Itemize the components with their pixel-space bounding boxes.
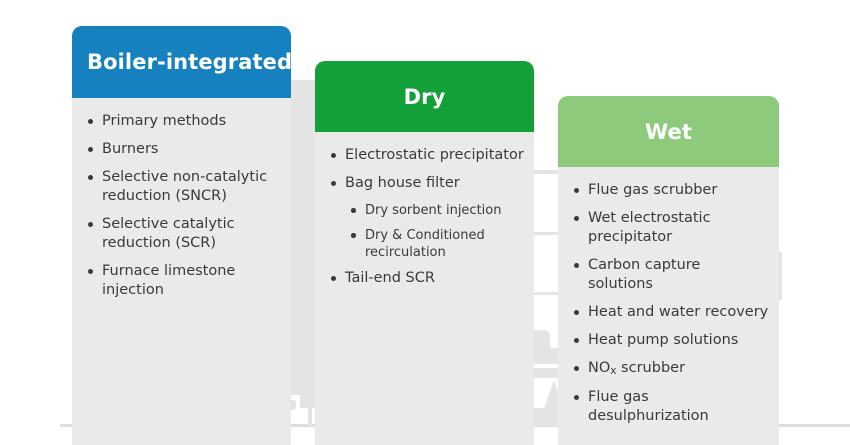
list-item: Flue gas desulphurization — [570, 388, 769, 426]
list-item: Primary methods — [84, 112, 281, 131]
list-item: Furnace limestone injection — [84, 262, 281, 300]
list-wet: Flue gas scrubber Wet electrostatic prec… — [570, 181, 769, 426]
card-header-boiler-integrated: Boiler-integrated — [72, 26, 291, 98]
list-item: Tail-end SCR — [327, 269, 524, 288]
card-title-wet: Wet — [645, 120, 692, 144]
list-item: Electrostatic precipitator — [327, 146, 524, 165]
card-boiler-integrated: Boiler-integrated Primary methods Burner… — [72, 26, 291, 445]
list-item: Bag house filter — [327, 174, 524, 193]
card-body-wet: Flue gas scrubber Wet electrostatic prec… — [558, 167, 779, 445]
list-item: Selective non-catalytic reduction (SNCR) — [84, 168, 281, 206]
list-item: Selective catalytic reduction (SCR) — [84, 215, 281, 253]
list-item-sub: Dry sorbent injection — [327, 202, 524, 219]
list-item: Wet electrostatic precipitator — [570, 209, 769, 247]
list-boiler-integrated: Primary methods Burners Selective non-ca… — [84, 112, 281, 300]
list-item: NOx scrubber — [570, 359, 769, 379]
list-dry: Electrostatic precipitator Bag house fil… — [327, 146, 524, 288]
infographic-canvas: Boiler-integrated Primary methods Burner… — [0, 0, 850, 445]
card-header-wet: Wet — [558, 96, 779, 167]
list-item: Flue gas scrubber — [570, 181, 769, 200]
list-item: Heat and water recovery — [570, 303, 769, 322]
card-body-boiler-integrated: Primary methods Burners Selective non-ca… — [72, 98, 291, 445]
list-item-sub: Dry & Conditioned recirculation — [327, 227, 524, 261]
list-item: Burners — [84, 140, 281, 159]
card-wet: Wet Flue gas scrubber Wet electrostatic … — [558, 96, 779, 445]
card-title-boiler-integrated: Boiler-integrated — [87, 50, 292, 74]
list-item: Heat pump solutions — [570, 331, 769, 350]
card-body-dry: Electrostatic precipitator Bag house fil… — [315, 132, 534, 445]
card-title-dry: Dry — [404, 85, 446, 109]
list-item: Carbon capture solutions — [570, 256, 769, 294]
card-header-dry: Dry — [315, 61, 534, 132]
card-dry: Dry Electrostatic precipitator Bag house… — [315, 61, 534, 445]
